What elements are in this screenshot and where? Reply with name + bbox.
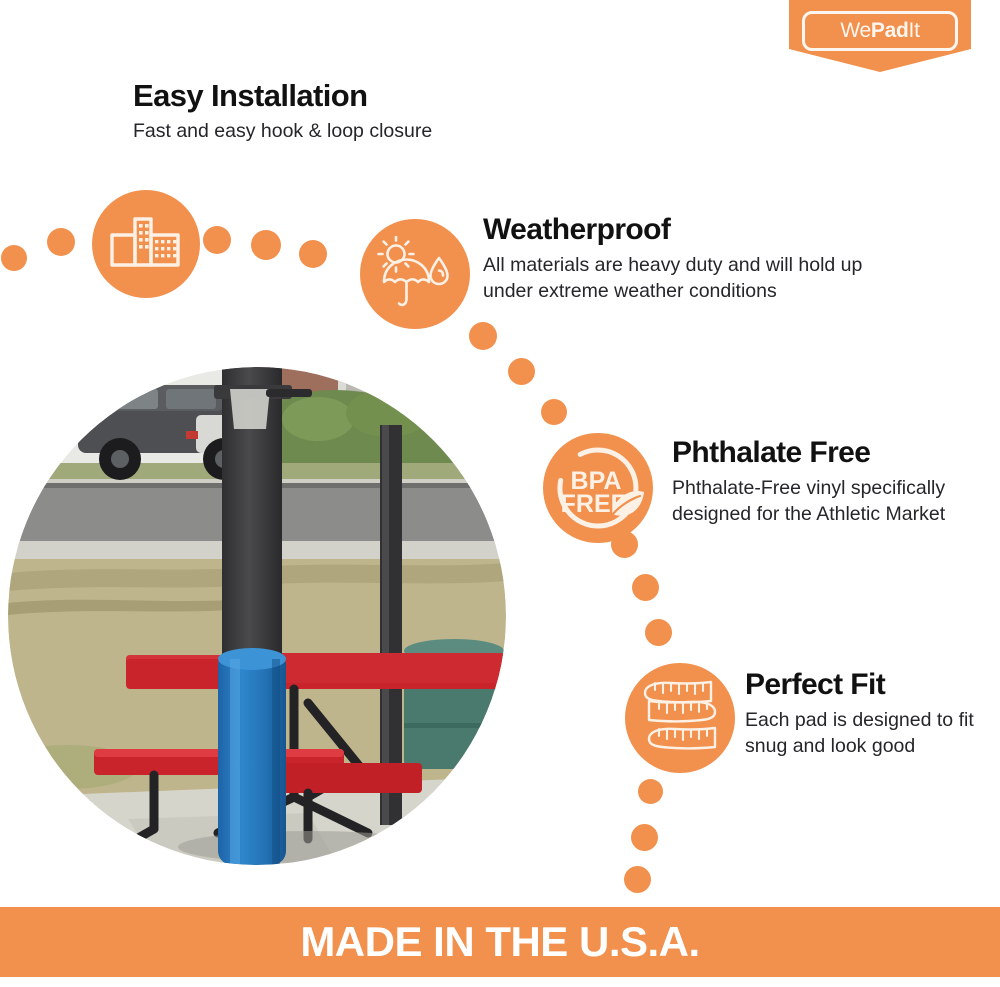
building-icon bbox=[109, 212, 183, 276]
feature-perfect-fit: Perfect Fit Each pad is designed to fit … bbox=[745, 668, 990, 760]
trail-dot bbox=[645, 619, 672, 646]
banner-text: MADE IN THE U.S.A. bbox=[300, 918, 699, 966]
product-photo bbox=[8, 367, 506, 865]
logo-border-frame: WePadIt bbox=[802, 11, 958, 51]
trail-dot bbox=[203, 226, 231, 254]
trail-dot bbox=[299, 240, 327, 268]
feature-description: Fast and easy hook & loop closure bbox=[133, 118, 432, 145]
trail-dot bbox=[251, 230, 281, 260]
feature-title: Easy Installation bbox=[133, 78, 432, 114]
trail-dot bbox=[631, 824, 658, 851]
feature-description: All materials are heavy duty and will ho… bbox=[483, 252, 913, 306]
brand-logo: WePadIt bbox=[789, 0, 971, 72]
bpa-free-icon-circle: BPA FREE bbox=[543, 433, 653, 543]
feature-title: Weatherproof bbox=[483, 213, 913, 248]
feature-phthalate-free: Phthalate Free Phthalate-Free vinyl spec… bbox=[672, 436, 972, 528]
logo-text: WePadIt bbox=[840, 19, 919, 43]
trail-dot bbox=[632, 574, 659, 601]
trail-dot bbox=[508, 358, 535, 385]
trail-dot bbox=[638, 779, 663, 804]
feature-title: Phthalate Free bbox=[672, 436, 972, 471]
made-in-usa-banner: MADE IN THE U.S.A. bbox=[0, 907, 1000, 977]
feature-weatherproof: Weatherproof All materials are heavy dut… bbox=[483, 213, 913, 305]
trail-dot bbox=[624, 866, 651, 893]
infographic-page: WePadIt bbox=[0, 0, 1000, 987]
measuring-tape-icon bbox=[637, 675, 723, 761]
feature-easy-installation: Easy Installation Fast and easy hook & l… bbox=[133, 78, 432, 145]
weatherproof-icon-circle bbox=[360, 219, 470, 329]
trail-dot bbox=[1, 245, 27, 271]
bpa-free-leaf-icon: BPA FREE bbox=[552, 442, 644, 534]
building-icon-circle bbox=[92, 190, 200, 298]
measuring-tape-circle bbox=[625, 663, 735, 773]
trail-dot bbox=[47, 228, 75, 256]
trail-dot bbox=[469, 322, 497, 350]
feature-title: Perfect Fit bbox=[745, 668, 990, 703]
umbrella-sun-rain-icon bbox=[376, 236, 454, 312]
feature-description: Phthalate-Free vinyl specifically design… bbox=[672, 475, 972, 529]
feature-description: Each pad is designed to fit snug and loo… bbox=[745, 707, 990, 761]
trail-dot bbox=[541, 399, 567, 425]
